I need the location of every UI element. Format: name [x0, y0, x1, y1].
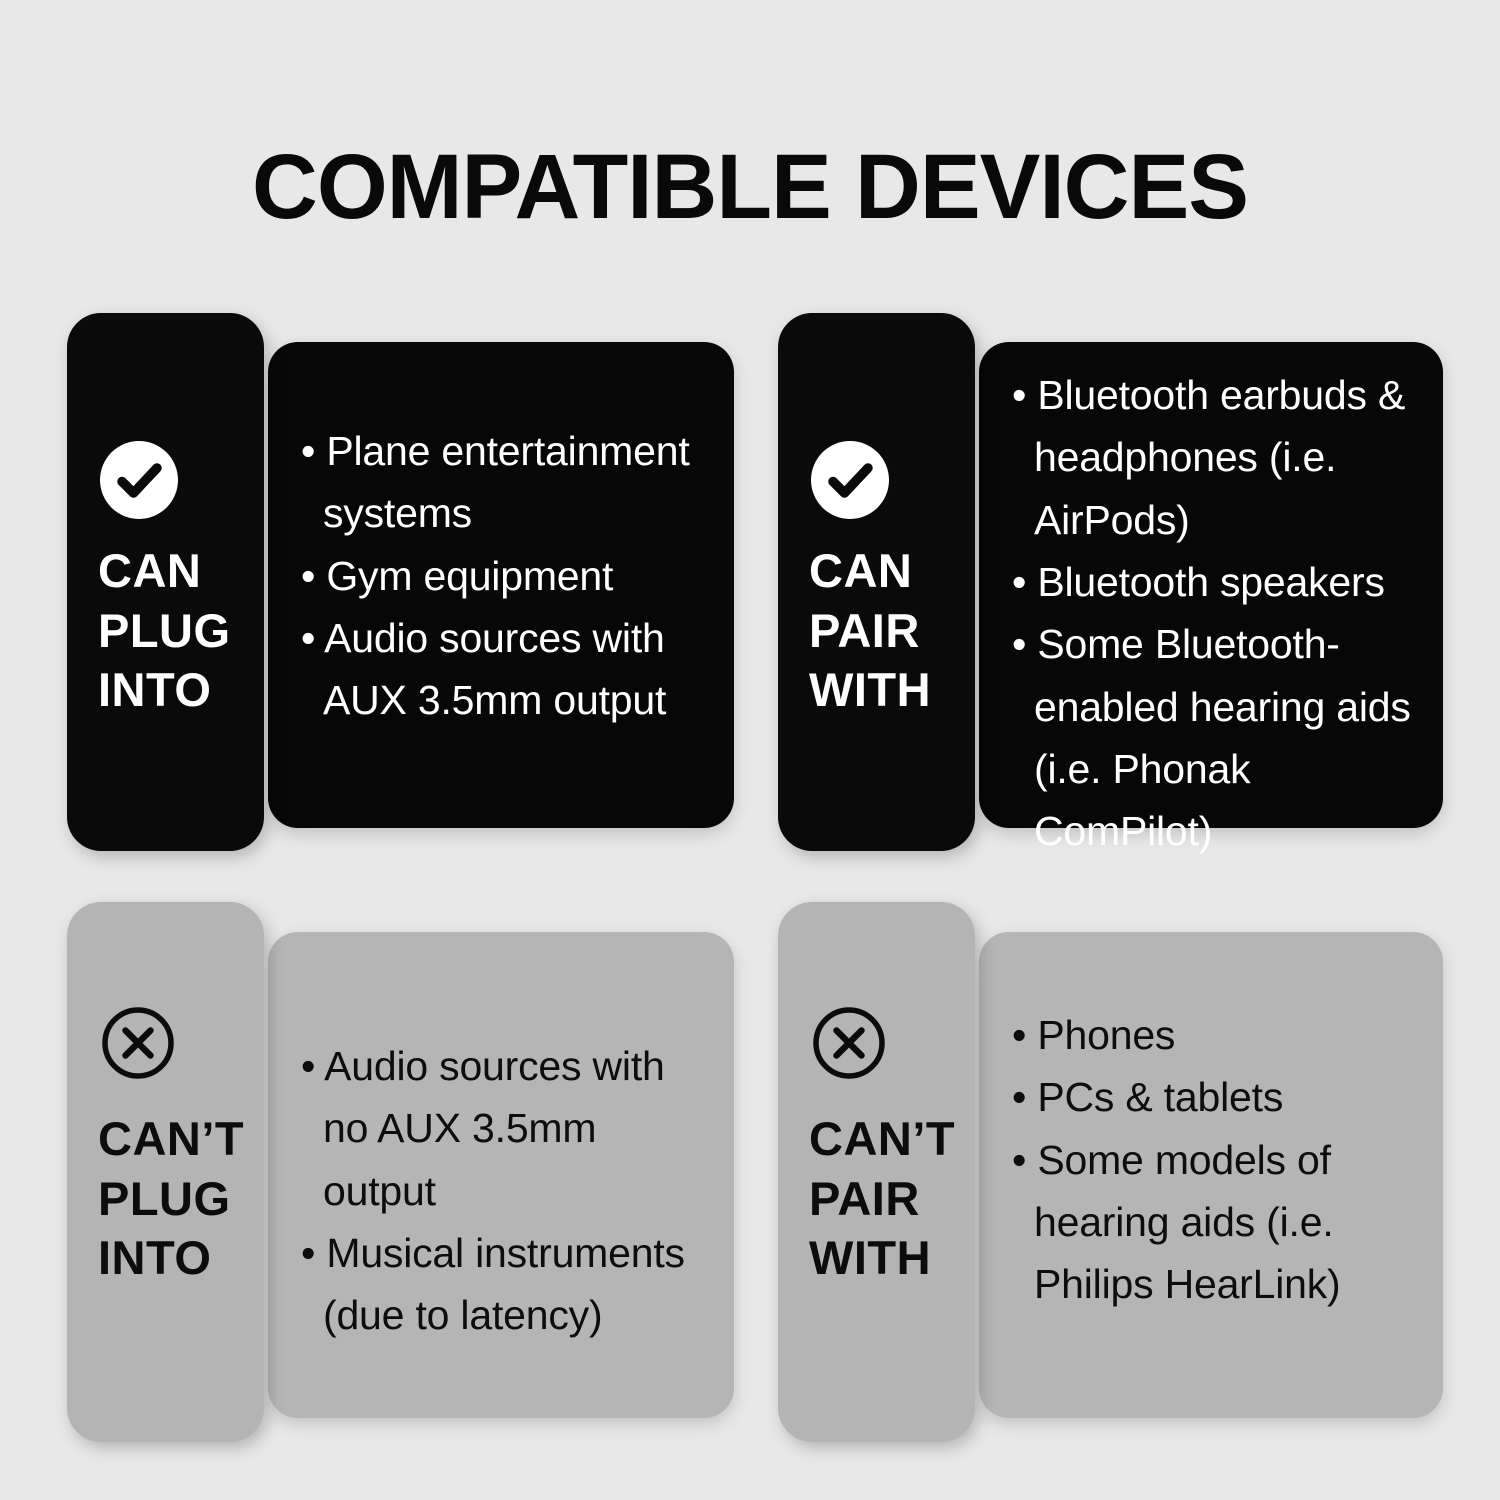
list-item: • Some models of hearing aids (i.e. Phil… [1012, 1129, 1442, 1316]
label-card-can-plug-into: CAN PLUG INTO [67, 313, 264, 851]
list-item: • Bluetooth speakers [1012, 551, 1432, 613]
list-item: • Audio sources with AUX 3.5mm output [301, 607, 711, 732]
page-title: COMPATIBLE DEVICES [8, 135, 1493, 240]
list-item: • Audio sources with no AUX 3.5mm output [301, 1035, 716, 1222]
infographic-root: COMPATIBLE DEVICES • Plane entertainment… [0, 0, 1500, 1500]
bullet-list-can-pair-with: • Bluetooth earbuds & headphones (i.e. A… [1012, 364, 1432, 863]
list-item: • Musical instruments (due to latency) [301, 1222, 716, 1347]
content-panel-cant-pair-with: • Phones • PCs & tablets • Some models o… [979, 932, 1443, 1418]
content-panel-can-pair-with: • Bluetooth earbuds & headphones (i.e. A… [979, 342, 1443, 828]
check-circle-filled-icon [100, 441, 178, 519]
list-item: • Plane entertainment systems [301, 420, 711, 545]
content-panel-can-plug-into: • Plane entertainment systems • Gym equi… [268, 342, 734, 828]
bullet-list-cant-pair-with: • Phones • PCs & tablets • Some models o… [1012, 1004, 1442, 1316]
content-panel-cant-plug-into: • Audio sources with no AUX 3.5mm output… [268, 932, 734, 1418]
label-card-cant-plug-into: CAN’T PLUG INTO [67, 902, 264, 1442]
list-item: • Gym equipment [301, 545, 711, 607]
list-item: • Some Bluetooth-enabled hearing aids (i… [1012, 613, 1432, 862]
label-text-can-pair-with: CAN PAIR WITH [809, 541, 931, 720]
label-text-can-plug-into: CAN PLUG INTO [98, 541, 231, 720]
list-item: • Phones [1012, 1004, 1442, 1066]
list-item: • PCs & tablets [1012, 1066, 1442, 1128]
bullet-list-cant-plug-into: • Audio sources with no AUX 3.5mm output… [301, 1035, 716, 1347]
label-text-cant-plug-into: CAN’T PLUG INTO [98, 1109, 244, 1288]
label-card-can-pair-with: CAN PAIR WITH [778, 313, 975, 851]
x-circle-outline-icon [100, 1005, 176, 1081]
bullet-list-can-plug-into: • Plane entertainment systems • Gym equi… [301, 420, 711, 732]
check-circle-filled-icon [811, 441, 889, 519]
label-card-cant-pair-with: CAN’T PAIR WITH [778, 902, 975, 1442]
x-circle-outline-icon [811, 1005, 887, 1081]
label-text-cant-pair-with: CAN’T PAIR WITH [809, 1109, 955, 1288]
list-item: • Bluetooth earbuds & headphones (i.e. A… [1012, 364, 1432, 551]
